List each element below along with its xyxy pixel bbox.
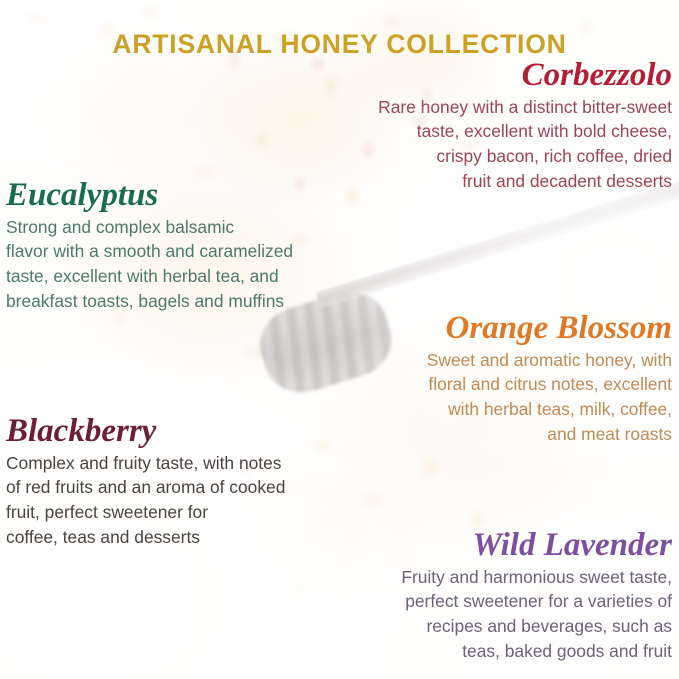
poster-content: ARTISANAL HONEY COLLECTION Corbezzolo Ra… xyxy=(0,0,679,679)
page-title: ARTISANAL HONEY COLLECTION xyxy=(0,29,679,60)
variety-name-orange-blossom: Orange Blossom xyxy=(272,311,672,346)
variety-block-wild-lavender: Wild Lavender Fruity and harmonious swee… xyxy=(272,528,672,663)
honey-collection-poster: ARTISANAL HONEY COLLECTION Corbezzolo Ra… xyxy=(0,0,679,679)
variety-block-corbezzolo: Corbezzolo Rare honey with a distinct bi… xyxy=(272,58,672,193)
variety-description-wild-lavender: Fruity and harmonious sweet taste, perfe… xyxy=(272,565,672,664)
variety-name-eucalyptus: Eucalyptus xyxy=(6,178,406,213)
variety-name-wild-lavender: Wild Lavender xyxy=(272,528,672,563)
variety-name-blackberry: Blackberry xyxy=(6,414,406,449)
variety-block-eucalyptus: Eucalyptus Strong and complex balsamic f… xyxy=(6,178,406,313)
variety-name-corbezzolo: Corbezzolo xyxy=(272,58,672,93)
variety-description-eucalyptus: Strong and complex balsamic flavor with … xyxy=(6,215,406,314)
